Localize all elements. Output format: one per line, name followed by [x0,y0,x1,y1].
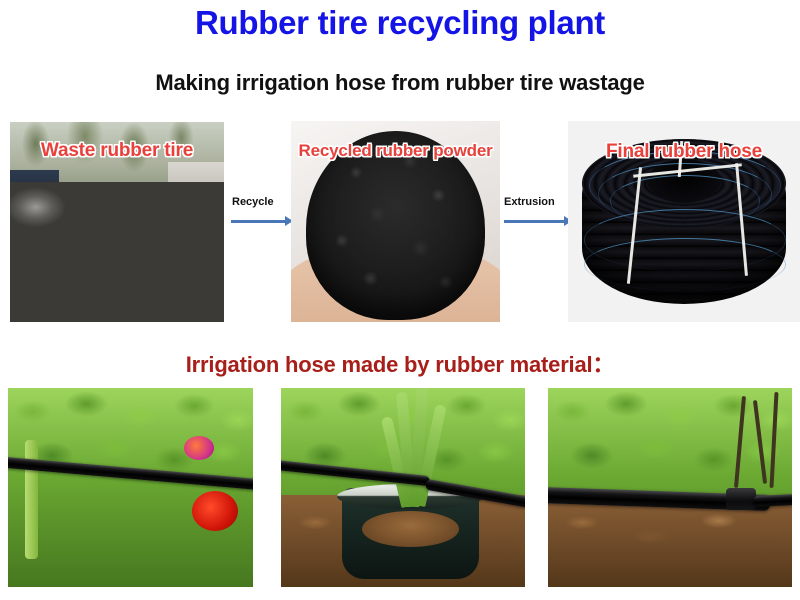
pot-soil [362,511,460,547]
hose-blue-stripe [584,238,786,291]
pink-flower [184,436,214,460]
extrusion-arrow-label: Extrusion [504,196,555,208]
rubber-powder-scene [291,121,500,322]
hose-coil-scene [568,121,800,322]
recycle-arrow-line [231,220,287,223]
potted-plant-photo [281,388,525,587]
waste-tire-scene [10,122,224,322]
section-title: Irrigation hose made by rubber material： [0,347,800,379]
garden-foliage [8,388,253,587]
tire-pile [10,182,224,322]
page-title: Rubber tire recycling plant [0,4,800,42]
field-hose-photo [548,388,792,587]
recycle-arrow-label: Recycle [232,196,274,208]
waste-tire-pile-photo: Waste rubber tire [10,122,224,322]
page-subtitle: Making irrigation hose from rubber tire … [0,70,800,96]
garden-hose-photo [8,388,253,587]
extrusion-arrow-line [504,220,566,223]
hose-connector-fitting [726,488,756,510]
plant-stalk [25,440,38,559]
rubber-powder-photo: Recycled rubber powder [291,121,500,322]
rubber-hose-coil-photo: Final rubber hose [568,121,800,322]
powder-mound [306,131,486,320]
